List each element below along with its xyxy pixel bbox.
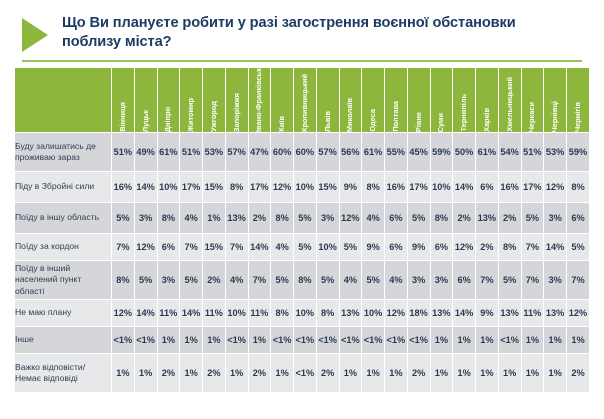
table-cell-value: 1%	[203, 327, 225, 353]
table-cell-value: 13%	[499, 300, 521, 326]
table-cell-value: 3%	[158, 261, 180, 299]
table-cell-value: 2%	[408, 354, 430, 392]
table-cell-value: 53%	[544, 133, 566, 171]
table-cell-value: 60%	[271, 133, 293, 171]
table-cell-value: <1%	[385, 327, 407, 353]
table-header-row: ВінницяЛуцькДніпроЖитомирУжгородЗапоріжж…	[15, 68, 589, 132]
table-cell-value: 4%	[340, 261, 362, 299]
column-header-city: Полтава	[385, 68, 407, 132]
table-cell-value: 11%	[249, 300, 271, 326]
table-cell-value: 10%	[362, 300, 384, 326]
table-cell-value: 45%	[408, 133, 430, 171]
column-header-city: Вінниця	[112, 68, 134, 132]
table-cell-value: 10%	[431, 172, 453, 202]
table-cell-value: 12%	[271, 172, 293, 202]
column-header-label: Одеса	[369, 109, 377, 132]
table-cell-value: 3%	[408, 261, 430, 299]
column-header-label: Черкаси	[528, 102, 536, 132]
table-cell-value: 17%	[522, 172, 544, 202]
table-cell-value: 9%	[340, 172, 362, 202]
table-cell-value: 8%	[158, 203, 180, 233]
table-cell-value: 3%	[135, 203, 157, 233]
table-cell-value: 60%	[294, 133, 316, 171]
table-cell-value: 13%	[544, 300, 566, 326]
table-cell-value: <1%	[294, 327, 316, 353]
table-row: Поїду в інший населений пункт області8%5…	[15, 261, 589, 299]
column-header-city: Чернівці	[544, 68, 566, 132]
table-cell-value: <1%	[226, 327, 248, 353]
table-cell-value: 14%	[249, 234, 271, 260]
table-cell-value: 12%	[340, 203, 362, 233]
column-header-city: Рівне	[408, 68, 430, 132]
table-cell-value: 7%	[567, 261, 589, 299]
table-cell-value: 56%	[340, 133, 362, 171]
table-cell-value: 14%	[453, 300, 475, 326]
table-cell-value: 16%	[499, 172, 521, 202]
column-header-city: Хмельницький	[499, 68, 521, 132]
table-cell-value: 57%	[226, 133, 248, 171]
row-header-label: Важко відповісти/Немає відповіді	[15, 354, 111, 392]
table-cell-value: <1%	[271, 327, 293, 353]
table-cell-value: 6%	[385, 234, 407, 260]
table-cell-value: 4%	[362, 203, 384, 233]
table-cell-value: 10%	[294, 172, 316, 202]
column-header-label: Харків	[483, 108, 491, 132]
column-header-label: Тернопіль	[460, 94, 468, 132]
column-header-label: Ужгород	[210, 101, 218, 132]
table-cell-value: 4%	[180, 203, 202, 233]
table-cell-value: 2%	[203, 261, 225, 299]
table-cell-value: 12%	[112, 300, 134, 326]
column-header-label: Львів	[324, 111, 332, 132]
table-cell-value: 3%	[544, 261, 566, 299]
table-cell-value: 5%	[362, 261, 384, 299]
table-cell-value: 7%	[112, 234, 134, 260]
column-header-city: Луцьк	[135, 68, 157, 132]
table-cell-value: 1%	[340, 354, 362, 392]
table-cell-value: 5%	[294, 203, 316, 233]
table-cell-value: 5%	[408, 203, 430, 233]
table-cell-value: 5%	[135, 261, 157, 299]
table-cell-value: 1%	[180, 354, 202, 392]
table-cell-value: 11%	[158, 300, 180, 326]
table-cell-value: 6%	[453, 261, 475, 299]
table-cell-value: 7%	[180, 234, 202, 260]
table-cell-value: 47%	[249, 133, 271, 171]
table-cell-value: 59%	[431, 133, 453, 171]
row-header-label: Поїду в інший населений пункт області	[15, 261, 111, 299]
column-header-city: Житомир	[180, 68, 202, 132]
table-cell-value: 1%	[476, 354, 498, 392]
slide-root: Що Ви плануєте робити у разі загострення…	[0, 0, 604, 419]
table-cell-value: 8%	[431, 203, 453, 233]
table-cell-value: 51%	[522, 133, 544, 171]
table-cell-value: 9%	[362, 234, 384, 260]
table-cell-value: 8%	[294, 261, 316, 299]
column-header-city: Івано-Франківськ	[249, 68, 271, 132]
results-table: ВінницяЛуцькДніпроЖитомирУжгородЗапоріжж…	[14, 67, 590, 393]
title-divider	[22, 60, 582, 62]
table-cell-value: 51%	[180, 133, 202, 171]
table-cell-value: 14%	[544, 234, 566, 260]
column-header-label: Івано-Франківськ	[255, 72, 263, 132]
table-cell-value: 1%	[203, 203, 225, 233]
table-cell-value: 4%	[271, 234, 293, 260]
table-row: Інше<1%<1%1%1%1%<1%1%<1%<1%<1%<1%<1%<1%<…	[15, 327, 589, 353]
table-cell-value: 53%	[203, 133, 225, 171]
table-cell-value: 12%	[544, 172, 566, 202]
triangle-right-icon	[22, 18, 48, 52]
table-cell-value: 17%	[180, 172, 202, 202]
table-cell-value: 4%	[385, 261, 407, 299]
column-header-city: Ужгород	[203, 68, 225, 132]
table-cell-value: 13%	[476, 203, 498, 233]
table-cell-value: 7%	[522, 261, 544, 299]
table-cell-value: 1%	[499, 354, 521, 392]
table-cell-value: 5%	[340, 234, 362, 260]
table-cell-value: 12%	[135, 234, 157, 260]
table-cell-value: 1%	[226, 354, 248, 392]
table-row: Поїду за кордон7%12%6%7%15%7%14%4%5%10%5…	[15, 234, 589, 260]
table-cell-value: 11%	[203, 300, 225, 326]
table-cell-value: 5%	[317, 261, 339, 299]
table-cell-value: 1%	[453, 354, 475, 392]
table-cell-value: 8%	[226, 172, 248, 202]
table-cell-value: 1%	[362, 354, 384, 392]
table-cell-value: 5%	[294, 234, 316, 260]
table-body: Буду залишатись де проживаю зараз51%49%6…	[15, 133, 589, 392]
table-cell-value: 6%	[476, 172, 498, 202]
table-cell-value: 49%	[135, 133, 157, 171]
column-header-city: Львів	[317, 68, 339, 132]
column-header-label: Хмельницький	[506, 77, 514, 132]
table-cell-value: 1%	[476, 327, 498, 353]
column-header-label: Кропивницький	[301, 74, 309, 132]
table-cell-value: 8%	[317, 300, 339, 326]
table-cell-value: 14%	[453, 172, 475, 202]
table-cell-value: 16%	[385, 172, 407, 202]
table-cell-value: 1%	[135, 354, 157, 392]
table-row: Буду залишатись де проживаю зараз51%49%6…	[15, 133, 589, 171]
table-cell-value: 2%	[453, 203, 475, 233]
table-cell-value: 5%	[567, 234, 589, 260]
table-row: Піду в Збройні сили16%14%10%17%15%8%17%1…	[15, 172, 589, 202]
table-cell-value: 10%	[317, 234, 339, 260]
table-cell-value: 1%	[180, 327, 202, 353]
table-cell-value: 59%	[567, 133, 589, 171]
table-cell-value: 8%	[271, 300, 293, 326]
table-cell-value: 10%	[226, 300, 248, 326]
table-cell-value: 6%	[431, 234, 453, 260]
table-cell-value: 12%	[567, 300, 589, 326]
column-header-city: Дніпро	[158, 68, 180, 132]
table-cell-value: 7%	[522, 234, 544, 260]
table-cell-value: 1%	[112, 354, 134, 392]
slide-header: Що Ви плануєте робити у разі загострення…	[0, 0, 604, 52]
table-cell-value: 5%	[180, 261, 202, 299]
table-cell-value: 11%	[522, 300, 544, 326]
table-cell-value: 9%	[476, 300, 498, 326]
table-cell-value: <1%	[340, 327, 362, 353]
column-header-city: Суми	[431, 68, 453, 132]
column-header-label: Миколаїв	[346, 98, 354, 132]
table-cell-value: 5%	[522, 203, 544, 233]
table-cell-value: 61%	[158, 133, 180, 171]
table-cell-value: 1%	[522, 354, 544, 392]
table-cell-value: 5%	[271, 261, 293, 299]
table-cell-value: 54%	[499, 133, 521, 171]
table-cell-value: 14%	[180, 300, 202, 326]
column-header-label: Луцьк	[142, 110, 150, 132]
table-cell-value: 5%	[112, 203, 134, 233]
table-cell-value: 61%	[476, 133, 498, 171]
table-cell-value: 16%	[112, 172, 134, 202]
table-cell-value: 1%	[431, 354, 453, 392]
column-header-city: Черкаси	[522, 68, 544, 132]
table-cell-value: <1%	[112, 327, 134, 353]
table-row: Важко відповісти/Немає відповіді1%1%2%1%…	[15, 354, 589, 392]
table-cell-value: 15%	[203, 172, 225, 202]
table-cell-value: 1%	[431, 327, 453, 353]
table-corner-cell	[15, 68, 111, 132]
column-header-label: Рівне	[415, 112, 423, 132]
column-header-label: Чернівці	[551, 101, 559, 132]
column-header-label: Дніпро	[164, 107, 172, 132]
table-cell-value: 1%	[453, 327, 475, 353]
table-cell-value: <1%	[362, 327, 384, 353]
table-cell-value: 3%	[431, 261, 453, 299]
column-header-city: Кропивницький	[294, 68, 316, 132]
table-cell-value: 12%	[385, 300, 407, 326]
column-header-city: Миколаїв	[340, 68, 362, 132]
table-cell-value: 8%	[499, 234, 521, 260]
row-header-label: Поїду за кордон	[15, 234, 111, 260]
table-cell-value: 50%	[453, 133, 475, 171]
page-title: Що Ви плануєте робити у разі загострення…	[62, 14, 532, 51]
column-header-city: Тернопіль	[453, 68, 475, 132]
table-cell-value: 1%	[385, 354, 407, 392]
table-cell-value: 10%	[294, 300, 316, 326]
table-cell-value: <1%	[135, 327, 157, 353]
table-cell-value: 10%	[158, 172, 180, 202]
table-cell-value: 2%	[499, 203, 521, 233]
table-cell-value: 2%	[249, 354, 271, 392]
table-cell-value: 2%	[567, 354, 589, 392]
table-cell-value: <1%	[408, 327, 430, 353]
table-cell-value: 2%	[476, 234, 498, 260]
column-header-label: Київ	[278, 116, 286, 132]
column-header-city: Харків	[476, 68, 498, 132]
column-header-city: Київ	[271, 68, 293, 132]
column-header-label: Запоріжжя	[233, 93, 241, 132]
table-cell-value: <1%	[317, 327, 339, 353]
table-cell-value: 3%	[544, 203, 566, 233]
table-cell-value: 8%	[362, 172, 384, 202]
table-cell-value: 1%	[522, 327, 544, 353]
table-cell-value: 6%	[567, 203, 589, 233]
table-cell-value: 17%	[249, 172, 271, 202]
table-cell-value: 3%	[317, 203, 339, 233]
table-row: Поїду в іншу область5%3%8%4%1%13%2%8%5%3…	[15, 203, 589, 233]
table-cell-value: 1%	[544, 354, 566, 392]
table-cell-value: 14%	[135, 172, 157, 202]
column-header-label: Житомир	[187, 98, 195, 132]
table-cell-value: 8%	[567, 172, 589, 202]
table-cell-value: 2%	[158, 354, 180, 392]
table-cell-value: 5%	[499, 261, 521, 299]
table-cell-value: 15%	[317, 172, 339, 202]
table-cell-value: 7%	[249, 261, 271, 299]
column-header-city: Одеса	[362, 68, 384, 132]
column-header-label: Суми	[437, 113, 445, 132]
table-cell-value: 1%	[567, 327, 589, 353]
table-cell-value: 13%	[340, 300, 362, 326]
table-cell-value: 2%	[249, 203, 271, 233]
table-cell-value: 6%	[158, 234, 180, 260]
table-cell-value: 8%	[112, 261, 134, 299]
table-cell-value: <1%	[294, 354, 316, 392]
table-cell-value: 9%	[408, 234, 430, 260]
table-cell-value: <1%	[499, 327, 521, 353]
column-header-label: Вінниця	[119, 102, 127, 132]
table-row: Не маю плану12%14%11%14%11%10%11%8%10%8%…	[15, 300, 589, 326]
table-cell-value: 55%	[385, 133, 407, 171]
table-cell-value: 1%	[271, 354, 293, 392]
table-cell-value: 1%	[544, 327, 566, 353]
table-cell-value: 14%	[135, 300, 157, 326]
row-header-label: Інше	[15, 327, 111, 353]
row-header-label: Не маю плану	[15, 300, 111, 326]
table-cell-value: 2%	[317, 354, 339, 392]
table-cell-value: 51%	[112, 133, 134, 171]
table-cell-value: 6%	[385, 203, 407, 233]
table-cell-value: 12%	[453, 234, 475, 260]
column-header-city: Запоріжжя	[226, 68, 248, 132]
table-cell-value: 7%	[226, 234, 248, 260]
column-header-label: Чернігів	[574, 102, 582, 132]
table-cell-value: 57%	[317, 133, 339, 171]
row-header-label: Буду залишатись де проживаю зараз	[15, 133, 111, 171]
row-header-label: Піду в Збройні сили	[15, 172, 111, 202]
table-cell-value: 61%	[362, 133, 384, 171]
table-cell-value: 17%	[408, 172, 430, 202]
table-cell-value: 1%	[249, 327, 271, 353]
column-header-label: Полтава	[392, 101, 400, 132]
table-cell-value: 1%	[158, 327, 180, 353]
table-cell-value: 7%	[476, 261, 498, 299]
table-cell-value: 2%	[203, 354, 225, 392]
column-header-city: Чернігів	[567, 68, 589, 132]
results-table-container: ВінницяЛуцькДніпроЖитомирУжгородЗапоріжж…	[14, 67, 590, 393]
table-cell-value: 13%	[431, 300, 453, 326]
row-header-label: Поїду в іншу область	[15, 203, 111, 233]
table-cell-value: 13%	[226, 203, 248, 233]
table-head: ВінницяЛуцькДніпроЖитомирУжгородЗапоріжж…	[15, 68, 589, 132]
table-cell-value: 8%	[271, 203, 293, 233]
table-cell-value: 18%	[408, 300, 430, 326]
table-cell-value: 15%	[203, 234, 225, 260]
table-cell-value: 4%	[226, 261, 248, 299]
